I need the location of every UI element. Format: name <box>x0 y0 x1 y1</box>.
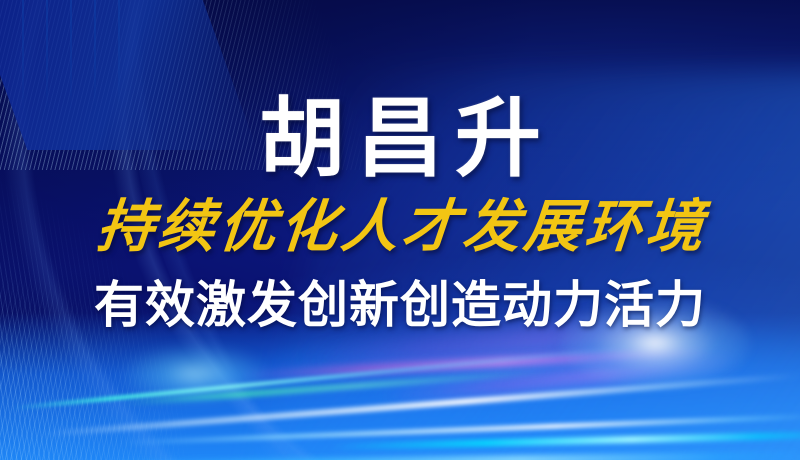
tagline-text: 有效激发创新创造动力活力 <box>94 280 706 330</box>
subheadline-text: 持续优化人才发展环境 <box>90 198 709 258</box>
headline-text: 胡昌升 <box>247 96 553 182</box>
promo-banner: 胡昌升 持续优化人才发展环境 有效激发创新创造动力活力 <box>0 0 800 460</box>
banner-text-block: 胡昌升 持续优化人才发展环境 有效激发创新创造动力活力 <box>0 0 800 460</box>
